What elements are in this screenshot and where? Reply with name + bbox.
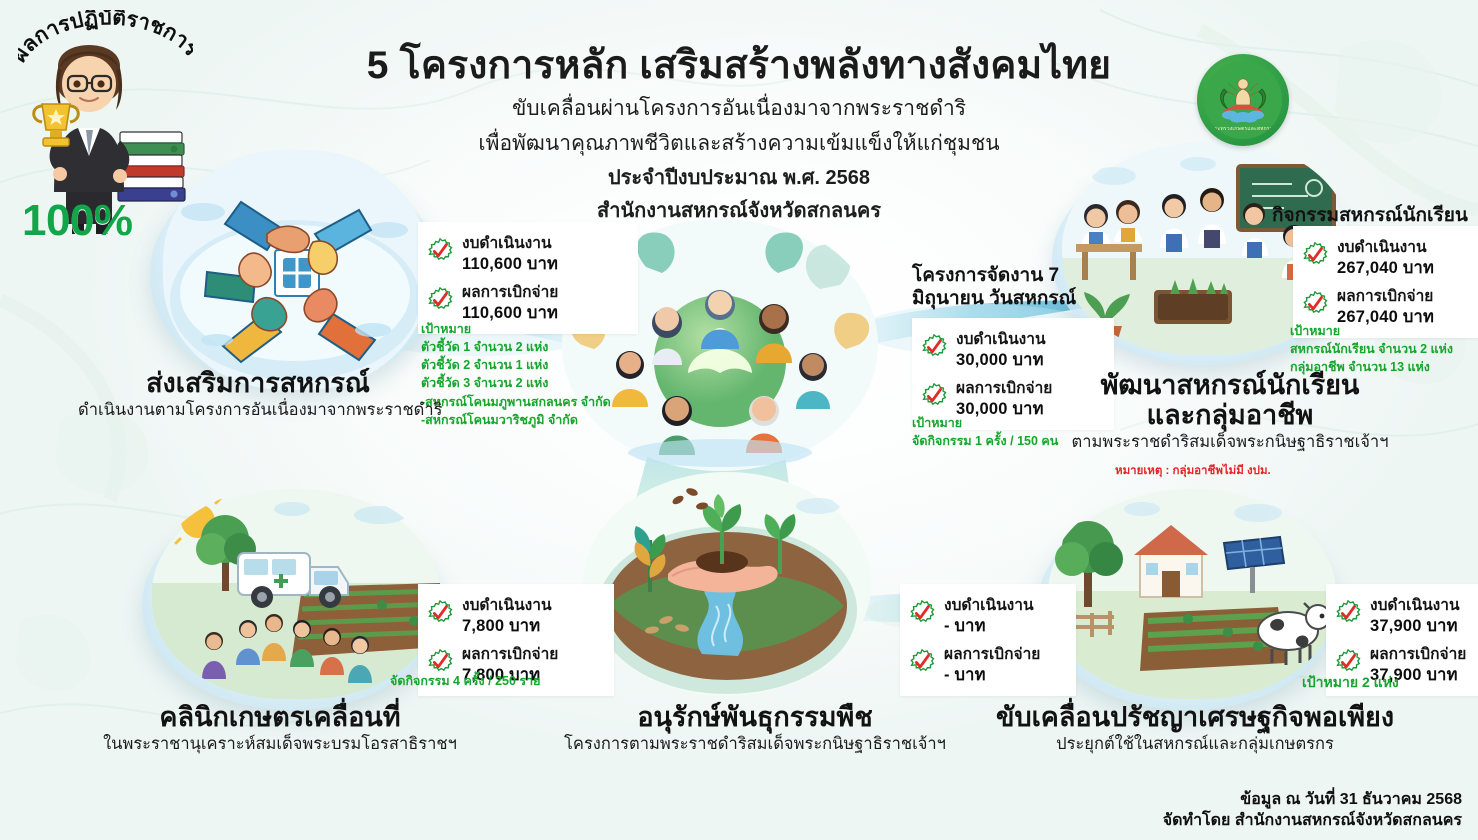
- row-value: - บาท: [944, 665, 1040, 685]
- goal-line: ตัวชี้วัด 2 จำนวน 1 แห่ง: [421, 356, 611, 374]
- goal-line: สหกรณ์นักเรียน จำนวน 2 แห่ง: [1290, 340, 1453, 358]
- goal-mobile-clinic: จัดกิจกรรม 4 ครั้ง / 250 ราย: [390, 672, 540, 690]
- green-seal-check-icon: [1302, 291, 1328, 317]
- row-value: 30,000 บาท: [956, 350, 1046, 370]
- card-plant-genetic-conservation: งบดำเนินงาน - บาท ผลการเบิกจ่าย - บาท: [900, 584, 1076, 696]
- section-title-student-cooperatives: พัฒนาสหกรณ์นักเรียน และกลุ่มอาชีพ ตามพระ…: [1040, 370, 1420, 453]
- green-seal-check-icon: [921, 334, 947, 360]
- goal-line: จัดกิจกรรม 4 ครั้ง / 250 ราย: [390, 672, 540, 690]
- goal-line: เป้าหมาย 2 แห่ง: [1302, 672, 1399, 692]
- header-fiscal-year: ประจำปีงบประมาณ พ.ศ. 2568: [0, 165, 1478, 192]
- goal-line: เป้าหมาย: [421, 320, 611, 338]
- row-value: 110,600 บาท: [462, 254, 558, 274]
- goal-promote-cooperatives: เป้าหมาย ตัวชี้วัด 1 จำนวน 2 แห่ง ตัวชี้…: [421, 320, 611, 429]
- row-label: ผลการเบิกจ่าย: [1370, 646, 1466, 665]
- row-disbursed: ผลการเบิกจ่าย - บาท: [909, 646, 1065, 685]
- green-seal-check-icon: [427, 600, 453, 626]
- green-seal-check-icon: [909, 600, 935, 626]
- sufficiency-farm-artwork: [1048, 487, 1336, 699]
- row-label: ผลการเบิกจ่าย: [462, 284, 558, 303]
- goal-line: จัดกิจกรรม 1 ครั้ง / 150 คน: [912, 432, 1058, 450]
- header-office-name: สำนักงานสหกรณ์จังหวัดสกลนคร: [0, 198, 1478, 225]
- footer-block: ข้อมูล ณ วันที่ 31 ธันวาคม 2568 จัดทำโดย…: [1163, 789, 1462, 832]
- row-budget: งบดำเนินงาน 110,600 บาท: [427, 235, 627, 274]
- green-seal-check-icon: [427, 287, 453, 313]
- goal-student-cooperatives: เป้าหมาย สหกรณ์นักเรียน จำนวน 2 แห่ง กลุ…: [1290, 322, 1453, 376]
- section-title-mobile-clinic: คลินิกเกษตรเคลื่อนที่ ในพระราชานุเคราะห์…: [80, 702, 480, 755]
- goal-line: เป้าหมาย: [912, 414, 1058, 432]
- row-budget: งบดำเนินงาน - บาท: [909, 597, 1065, 636]
- farmhouse-solar-cow-field-icon: [1048, 487, 1336, 699]
- green-seal-check-icon: [1302, 242, 1328, 268]
- row-label: งบดำเนินงาน: [956, 331, 1046, 350]
- green-seal-check-icon: [1335, 600, 1361, 626]
- row-label: ผลการเบิกจ่าย: [1337, 288, 1434, 307]
- goal-line: ตัวชี้วัด 1 จำนวน 2 แห่ง: [421, 338, 611, 356]
- performance-percent: 100%: [22, 196, 133, 246]
- section-heading: อนุรักษ์พันธุกรรมพืช: [505, 702, 1005, 732]
- mobile-clinic-van-farmers-icon: [152, 487, 440, 699]
- mobile-clinic-artwork: [152, 487, 440, 699]
- section-title-plant-genetic-conservation: อนุรักษ์พันธุกรรมพืช โครงการตามพระราชดำร…: [505, 702, 1005, 755]
- note-student-cooperatives: หมายเหตุ : กลุ่มอาชีพไม่มี งปม.: [1115, 462, 1271, 480]
- section-heading: คลินิกเกษตรเคลื่อนที่: [80, 702, 480, 732]
- section-subheading: โครงการตามพระราชดำริสมเด็จพระกนิษฐาธิราช…: [505, 734, 1005, 755]
- row-budget: งบดำเนินงาน 267,040 บาท: [1302, 239, 1478, 278]
- card-promote-cooperatives: งบดำเนินงาน 110,600 บาท ผลการเบิกจ่าย 11…: [418, 222, 638, 334]
- green-seal-check-icon: [909, 649, 935, 675]
- card-title-cooperative-day: โครงการจัดงาน 7 มิถุนายน วันสหกรณ์: [912, 264, 1112, 310]
- section-heading: ส่งเสริมการสหกรณ์: [78, 368, 438, 398]
- goal-line: เป้าหมาย: [1290, 322, 1453, 340]
- goal-line: -สหกรณ์โคนมวาริชภูมิ จำกัด: [421, 411, 611, 429]
- row-label: ผลการเบิกจ่าย: [944, 646, 1040, 665]
- section-heading: พัฒนาสหกรณ์นักเรียน และกลุ่มอาชีพ: [1040, 370, 1420, 430]
- seedling-stream-artwork: [582, 470, 872, 698]
- infographic-canvas: 5 โครงการหลัก เสริมสร้างพลังทางสังคมไทย …: [0, 0, 1478, 840]
- row-label: ผลการเบิกจ่าย: [462, 646, 558, 665]
- row-budget: งบดำเนินงาน 37,900 บาท: [1335, 597, 1478, 636]
- section-subheading: ตามพระราชดำริสมเด็จพระกนิษฐาธิราชเจ้าฯ: [1040, 432, 1420, 453]
- section-subheading: ในพระราชานุเคราะห์สมเด็จพระบรมโอรสาธิราช…: [80, 734, 480, 755]
- row-budget: งบดำเนินงาน 7,800 บาท: [427, 597, 603, 636]
- footer-publisher: จัดทำโดย สำนักงานสหกรณ์จังหวัดสกลนคร: [1163, 810, 1462, 832]
- goal-sufficiency-economy: เป้าหมาย 2 แห่ง: [1302, 672, 1399, 692]
- goal-line: -สหกรณ์โคนมภูพานสกลนคร จำกัด: [421, 393, 611, 411]
- section-subheading: ดำเนินงานตามโครงการอันเนื่องมาจากพระราชด…: [78, 400, 438, 421]
- row-label: งบดำเนินงาน: [462, 597, 552, 616]
- row-label: งบดำเนินงาน: [462, 235, 558, 254]
- goal-line: ตัวชี้วัด 3 จำนวน 2 แห่ง: [421, 374, 611, 392]
- section-heading: ขับเคลื่อนปรัชญาเศรษฐกิจพอเพียง: [995, 702, 1395, 732]
- row-value: 37,900 บาท: [1370, 616, 1460, 636]
- row-label: ผลการเบิกจ่าย: [956, 380, 1052, 399]
- section-subheading: ประยุกต์ใช้ในสหกรณ์และกลุ่มเกษตรกร: [995, 734, 1395, 755]
- row-label: งบดำเนินงาน: [1370, 597, 1460, 616]
- green-seal-check-icon: [427, 238, 453, 264]
- ministry-of-agriculture-seal-icon: กระทรวงเกษตรและสหกรณ์: [1197, 54, 1289, 146]
- row-value: - บาท: [944, 616, 1034, 636]
- row-value: 267,040 บาท: [1337, 258, 1434, 278]
- row-budget: งบดำเนินงาน 30,000 บาท: [921, 331, 1103, 370]
- green-seal-check-icon: [921, 383, 947, 409]
- seal-caption: กระทรวงเกษตรและสหกรณ์: [1204, 125, 1282, 133]
- row-label: งบดำเนินงาน: [1337, 239, 1434, 258]
- row-label: งบดำเนินงาน: [944, 597, 1034, 616]
- hand-seedling-stream-icon: [582, 470, 872, 698]
- row-value: 7,800 บาท: [462, 616, 552, 636]
- row-disbursed: ผลการเบิกจ่าย 110,600 บาท: [427, 284, 627, 323]
- section-title-promote-cooperatives: ส่งเสริมการสหกรณ์ ดำเนินงานตามโครงการอัน…: [78, 368, 438, 421]
- section-title-sufficiency-economy: ขับเคลื่อนปรัชญาเศรษฐกิจพอเพียง ประยุกต์…: [995, 702, 1395, 755]
- goal-cooperative-day: เป้าหมาย จัดกิจกรรม 1 ครั้ง / 150 คน: [912, 414, 1058, 450]
- footer-data-date: ข้อมูล ณ วันที่ 31 ธันวาคม 2568: [1163, 789, 1462, 811]
